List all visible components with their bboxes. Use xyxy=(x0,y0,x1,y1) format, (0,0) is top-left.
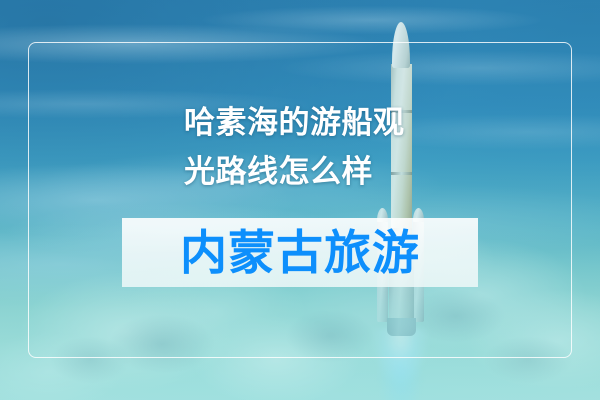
banner-content: 哈素海的游船观 光路线怎么样 内蒙古旅游 xyxy=(0,0,600,400)
banner-subhead: 内蒙古旅游 xyxy=(180,229,420,276)
subhead-ribbon: 内蒙古旅游 xyxy=(122,218,478,287)
promo-banner: 哈素海的游船观 光路线怎么样 内蒙古旅游 xyxy=(0,0,600,400)
banner-headline: 哈素海的游船观 光路线怎么样 xyxy=(184,98,434,196)
